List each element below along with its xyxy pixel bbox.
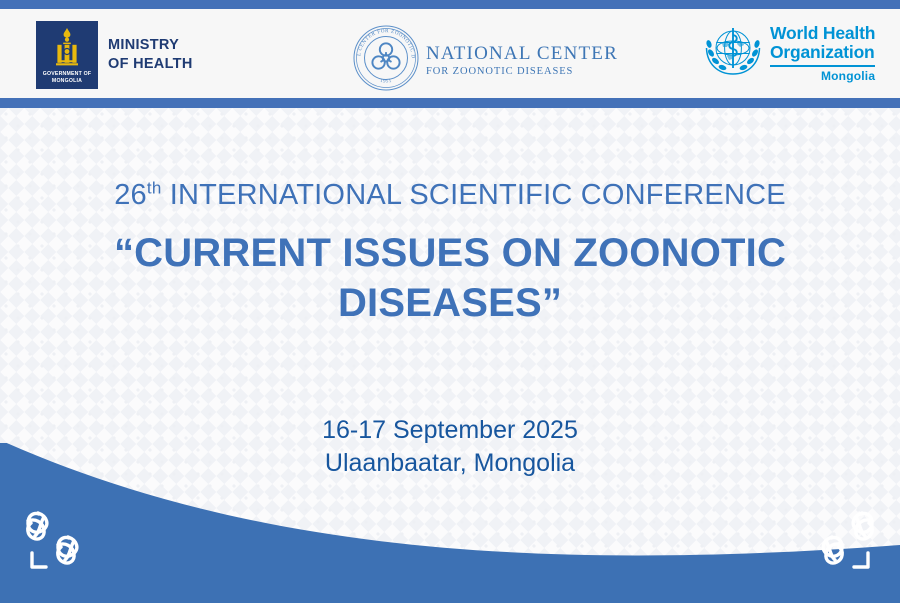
nczd-seal-icon: NATIONAL CENTER FOR ZOONOTIC DISEASES 19… <box>352 24 420 97</box>
soyombo-symbol-icon <box>36 26 98 70</box>
conference-number-suffix: th <box>147 178 162 197</box>
nczd-name-line2: FOR ZOONOTIC DISEASES <box>426 67 618 78</box>
nczd-name-line1: NATIONAL CENTER <box>426 44 618 63</box>
conference-subtitle-text: INTERNATIONAL SCIENTIFIC CONFERENCE <box>161 179 785 211</box>
logo-world-health-organization: World Health Organization Mongolia <box>702 22 875 85</box>
mongolian-knot-ornament-icon-right <box>808 505 882 575</box>
conference-subtitle: 26th INTERNATIONAL SCIENTIFIC CONFERENCE <box>0 176 900 214</box>
who-name-line1: World Health <box>770 24 875 43</box>
who-name: World Health Organization Mongolia <box>770 24 875 83</box>
emblem-caption: GOVERNMENT OF MONGOLIA <box>36 71 98 85</box>
who-name-line2: Organization <box>770 43 875 62</box>
page-title: “CURRENT ISSUES ON ZOONOTIC DISEASES” <box>0 228 900 328</box>
conference-number: 26 <box>114 179 147 211</box>
ministry-of-health-name: MINISTRY OF HEALTH <box>108 36 193 74</box>
who-country-label: Mongolia <box>770 69 875 83</box>
nczd-name: NATIONAL CENTER FOR ZOONOTIC DISEASES <box>426 44 618 78</box>
header-blue-rule <box>0 98 900 108</box>
who-emblem-icon <box>702 22 764 85</box>
svg-text:NATIONAL CENTER FOR ZOONOTIC D: NATIONAL CENTER FOR ZOONOTIC DISEASES <box>352 24 416 59</box>
who-divider <box>770 65 875 67</box>
logo-ministry-of-health: GOVERNMENT OF MONGOLIA MINISTRY OF HEALT… <box>36 21 193 89</box>
page-title-line2: DISEASES” <box>0 278 900 328</box>
page-title-line1: “CURRENT ISSUES ON ZOONOTIC <box>0 228 900 278</box>
logo-national-center-zoonotic-diseases: NATIONAL CENTER FOR ZOONOTIC DISEASES 19… <box>352 24 618 97</box>
emblem-caption-line1: GOVERNMENT OF <box>36 71 98 78</box>
mongolia-state-emblem-icon: GOVERNMENT OF MONGOLIA <box>36 21 98 89</box>
svg-text:1951: 1951 <box>380 79 393 85</box>
ministry-name-line2: OF HEALTH <box>108 55 193 74</box>
title-block: 26th INTERNATIONAL SCIENTIFIC CONFERENCE… <box>0 176 900 328</box>
emblem-caption-line2: MONGOLIA <box>36 78 98 85</box>
conference-title-slide: GOVERNMENT OF MONGOLIA MINISTRY OF HEALT… <box>0 0 900 603</box>
ministry-name-line1: MINISTRY <box>108 36 193 55</box>
bottom-wave-decoration <box>0 443 900 603</box>
mongolian-knot-ornament-icon-left <box>18 505 92 575</box>
top-blue-rule <box>0 0 900 9</box>
